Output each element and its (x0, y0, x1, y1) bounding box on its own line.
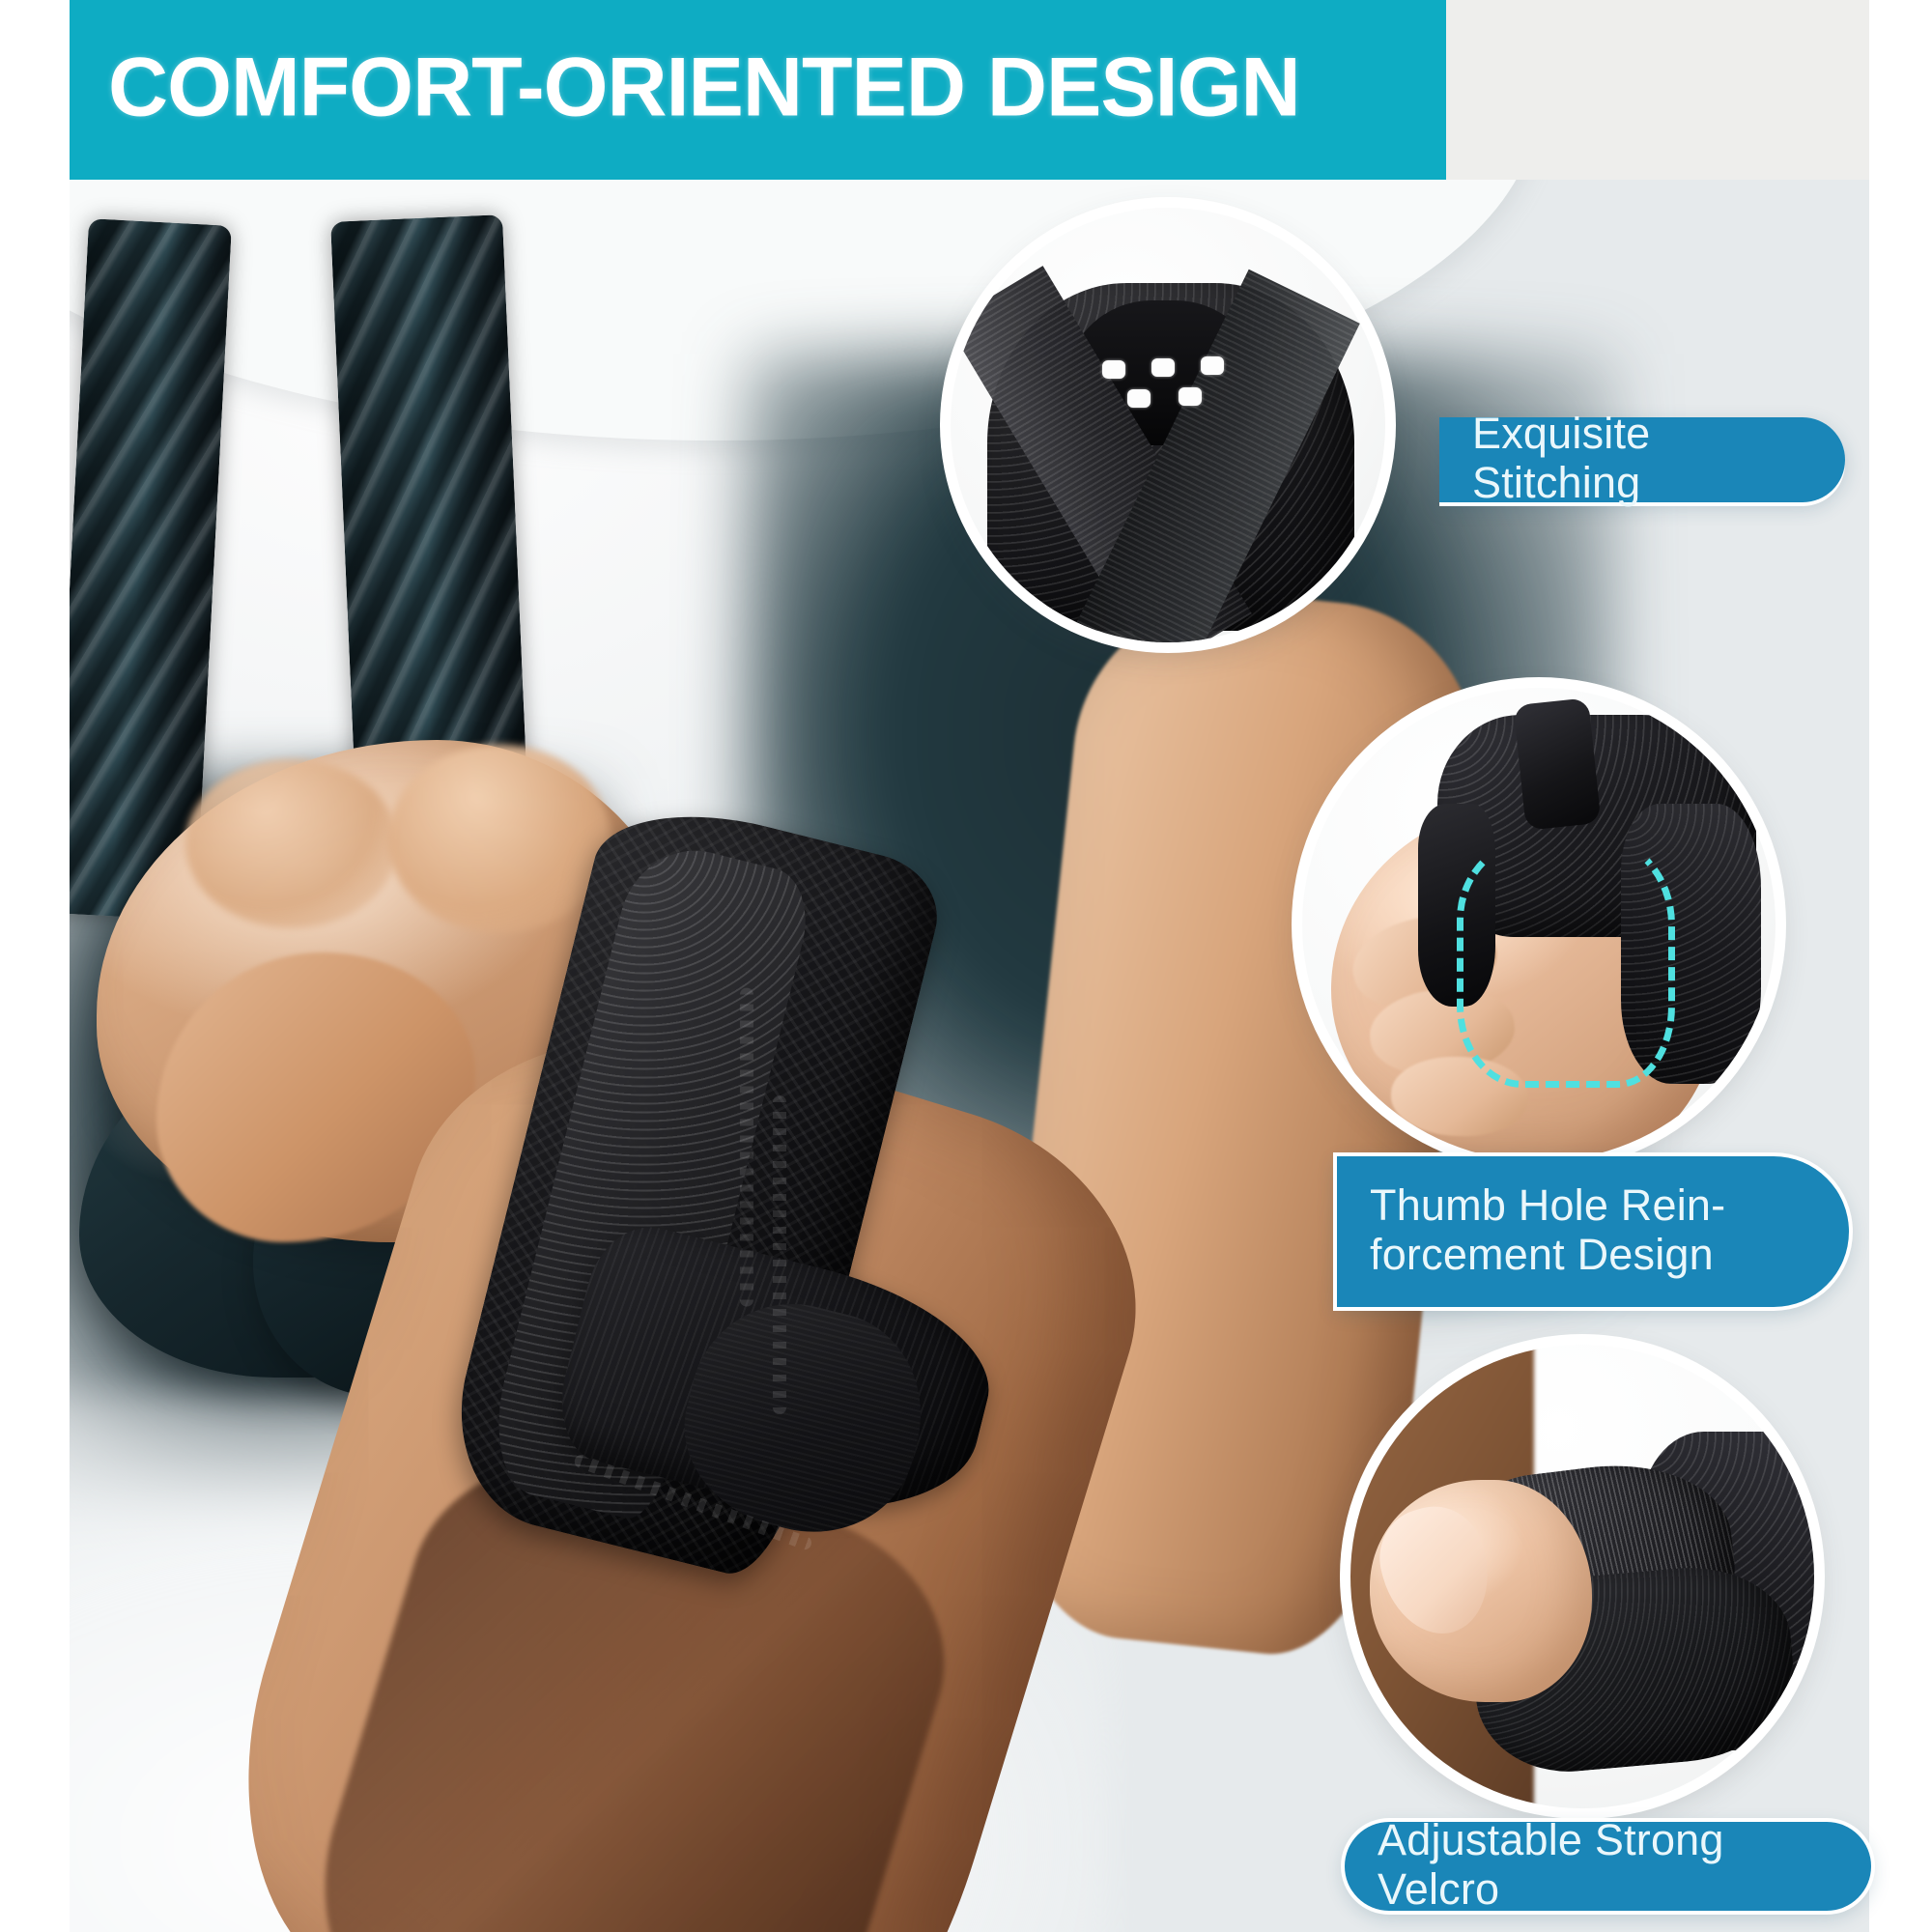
ventilation-hole (1179, 387, 1202, 406)
callout-label-thumb-hole: Thumb Hole Rein- forcement Design (1337, 1156, 1849, 1307)
callout-label-text: Exquisite Stitching (1472, 410, 1812, 508)
page-title: COMFORT-ORIENTED DESIGN (108, 41, 1300, 136)
ventilation-hole (1102, 360, 1125, 379)
knuckle-highlight-left (185, 759, 398, 928)
callout-inset-exquisite-stitching (951, 208, 1385, 642)
infographic-canvas: COMFORT-ORIENTED DESIGN (0, 0, 1932, 1932)
callout-label-text: Adjustable Strong Velcro (1378, 1816, 1838, 1915)
ventilation-hole (1127, 389, 1151, 408)
inset-photo-thumb-hole (1302, 688, 1776, 1161)
callout-label-text: Thumb Hole Rein- forcement Design (1370, 1181, 1725, 1280)
callout-label-exquisite-stitching: Exquisite Stitching (1439, 417, 1845, 502)
callout-inset-thumb-hole (1302, 688, 1776, 1161)
thumb-hole-highlight-outline (1457, 833, 1675, 1088)
brace-top-strap (1513, 697, 1601, 830)
callout-label-velcro: Adjustable Strong Velcro (1345, 1822, 1871, 1911)
callout-inset-velcro (1350, 1345, 1814, 1808)
header-banner: COMFORT-ORIENTED DESIGN (70, 0, 1446, 180)
inset-photo-folded-brace (951, 208, 1385, 642)
ventilation-hole (1201, 356, 1224, 375)
brace-stitch-line (740, 988, 753, 1307)
ventilation-hole (1151, 358, 1175, 377)
inset-photo-velcro (1350, 1345, 1814, 1808)
brace-stitch-line (773, 1095, 786, 1414)
